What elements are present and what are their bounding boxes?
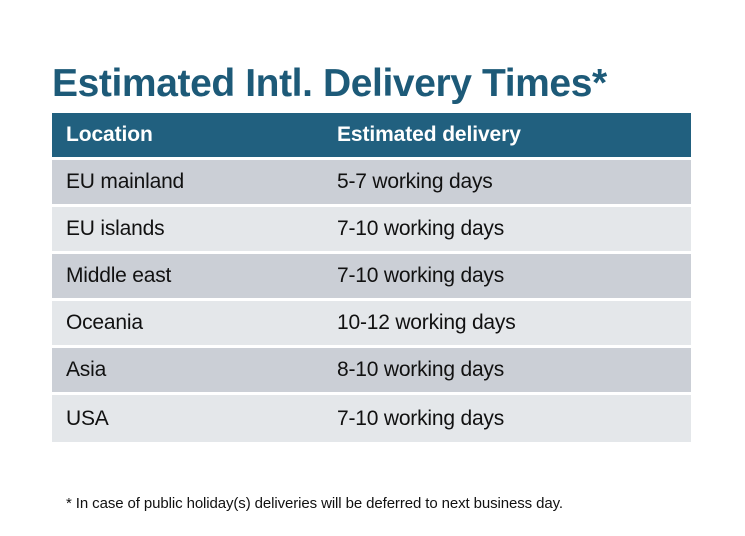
table-body: EU mainland 5-7 working days EU islands … bbox=[52, 160, 691, 442]
table-footnote: * In case of public holiday(s) deliverie… bbox=[66, 494, 563, 514]
cell-location: EU mainland bbox=[52, 160, 323, 207]
cell-estimated-delivery: 7-10 working days bbox=[323, 207, 691, 254]
table-row: Asia 8-10 working days bbox=[52, 348, 691, 395]
table-row: Middle east 7-10 working days bbox=[52, 254, 691, 301]
cell-location: Asia bbox=[52, 348, 323, 395]
column-header-estimated-delivery: Estimated delivery bbox=[323, 113, 691, 160]
cell-location: USA bbox=[52, 395, 323, 442]
column-header-location: Location bbox=[52, 113, 323, 160]
delivery-times-page: Estimated Intl. Delivery Times* Location… bbox=[0, 0, 745, 536]
table-row: EU mainland 5-7 working days bbox=[52, 160, 691, 207]
cell-estimated-delivery: 10-12 working days bbox=[323, 301, 691, 348]
cell-estimated-delivery: 7-10 working days bbox=[323, 254, 691, 301]
table-header: Location Estimated delivery bbox=[52, 113, 691, 160]
cell-location: EU islands bbox=[52, 207, 323, 254]
cell-estimated-delivery: 7-10 working days bbox=[323, 395, 691, 442]
table-header-row: Location Estimated delivery bbox=[52, 113, 691, 160]
page-title: Estimated Intl. Delivery Times* bbox=[52, 62, 607, 106]
table-row: EU islands 7-10 working days bbox=[52, 207, 691, 254]
table-row: Oceania 10-12 working days bbox=[52, 301, 691, 348]
table-row: USA 7-10 working days bbox=[52, 395, 691, 442]
cell-location: Middle east bbox=[52, 254, 323, 301]
cell-estimated-delivery: 5-7 working days bbox=[323, 160, 691, 207]
cell-location: Oceania bbox=[52, 301, 323, 348]
estimated-delivery-table: Location Estimated delivery EU mainland … bbox=[52, 113, 691, 442]
cell-estimated-delivery: 8-10 working days bbox=[323, 348, 691, 395]
